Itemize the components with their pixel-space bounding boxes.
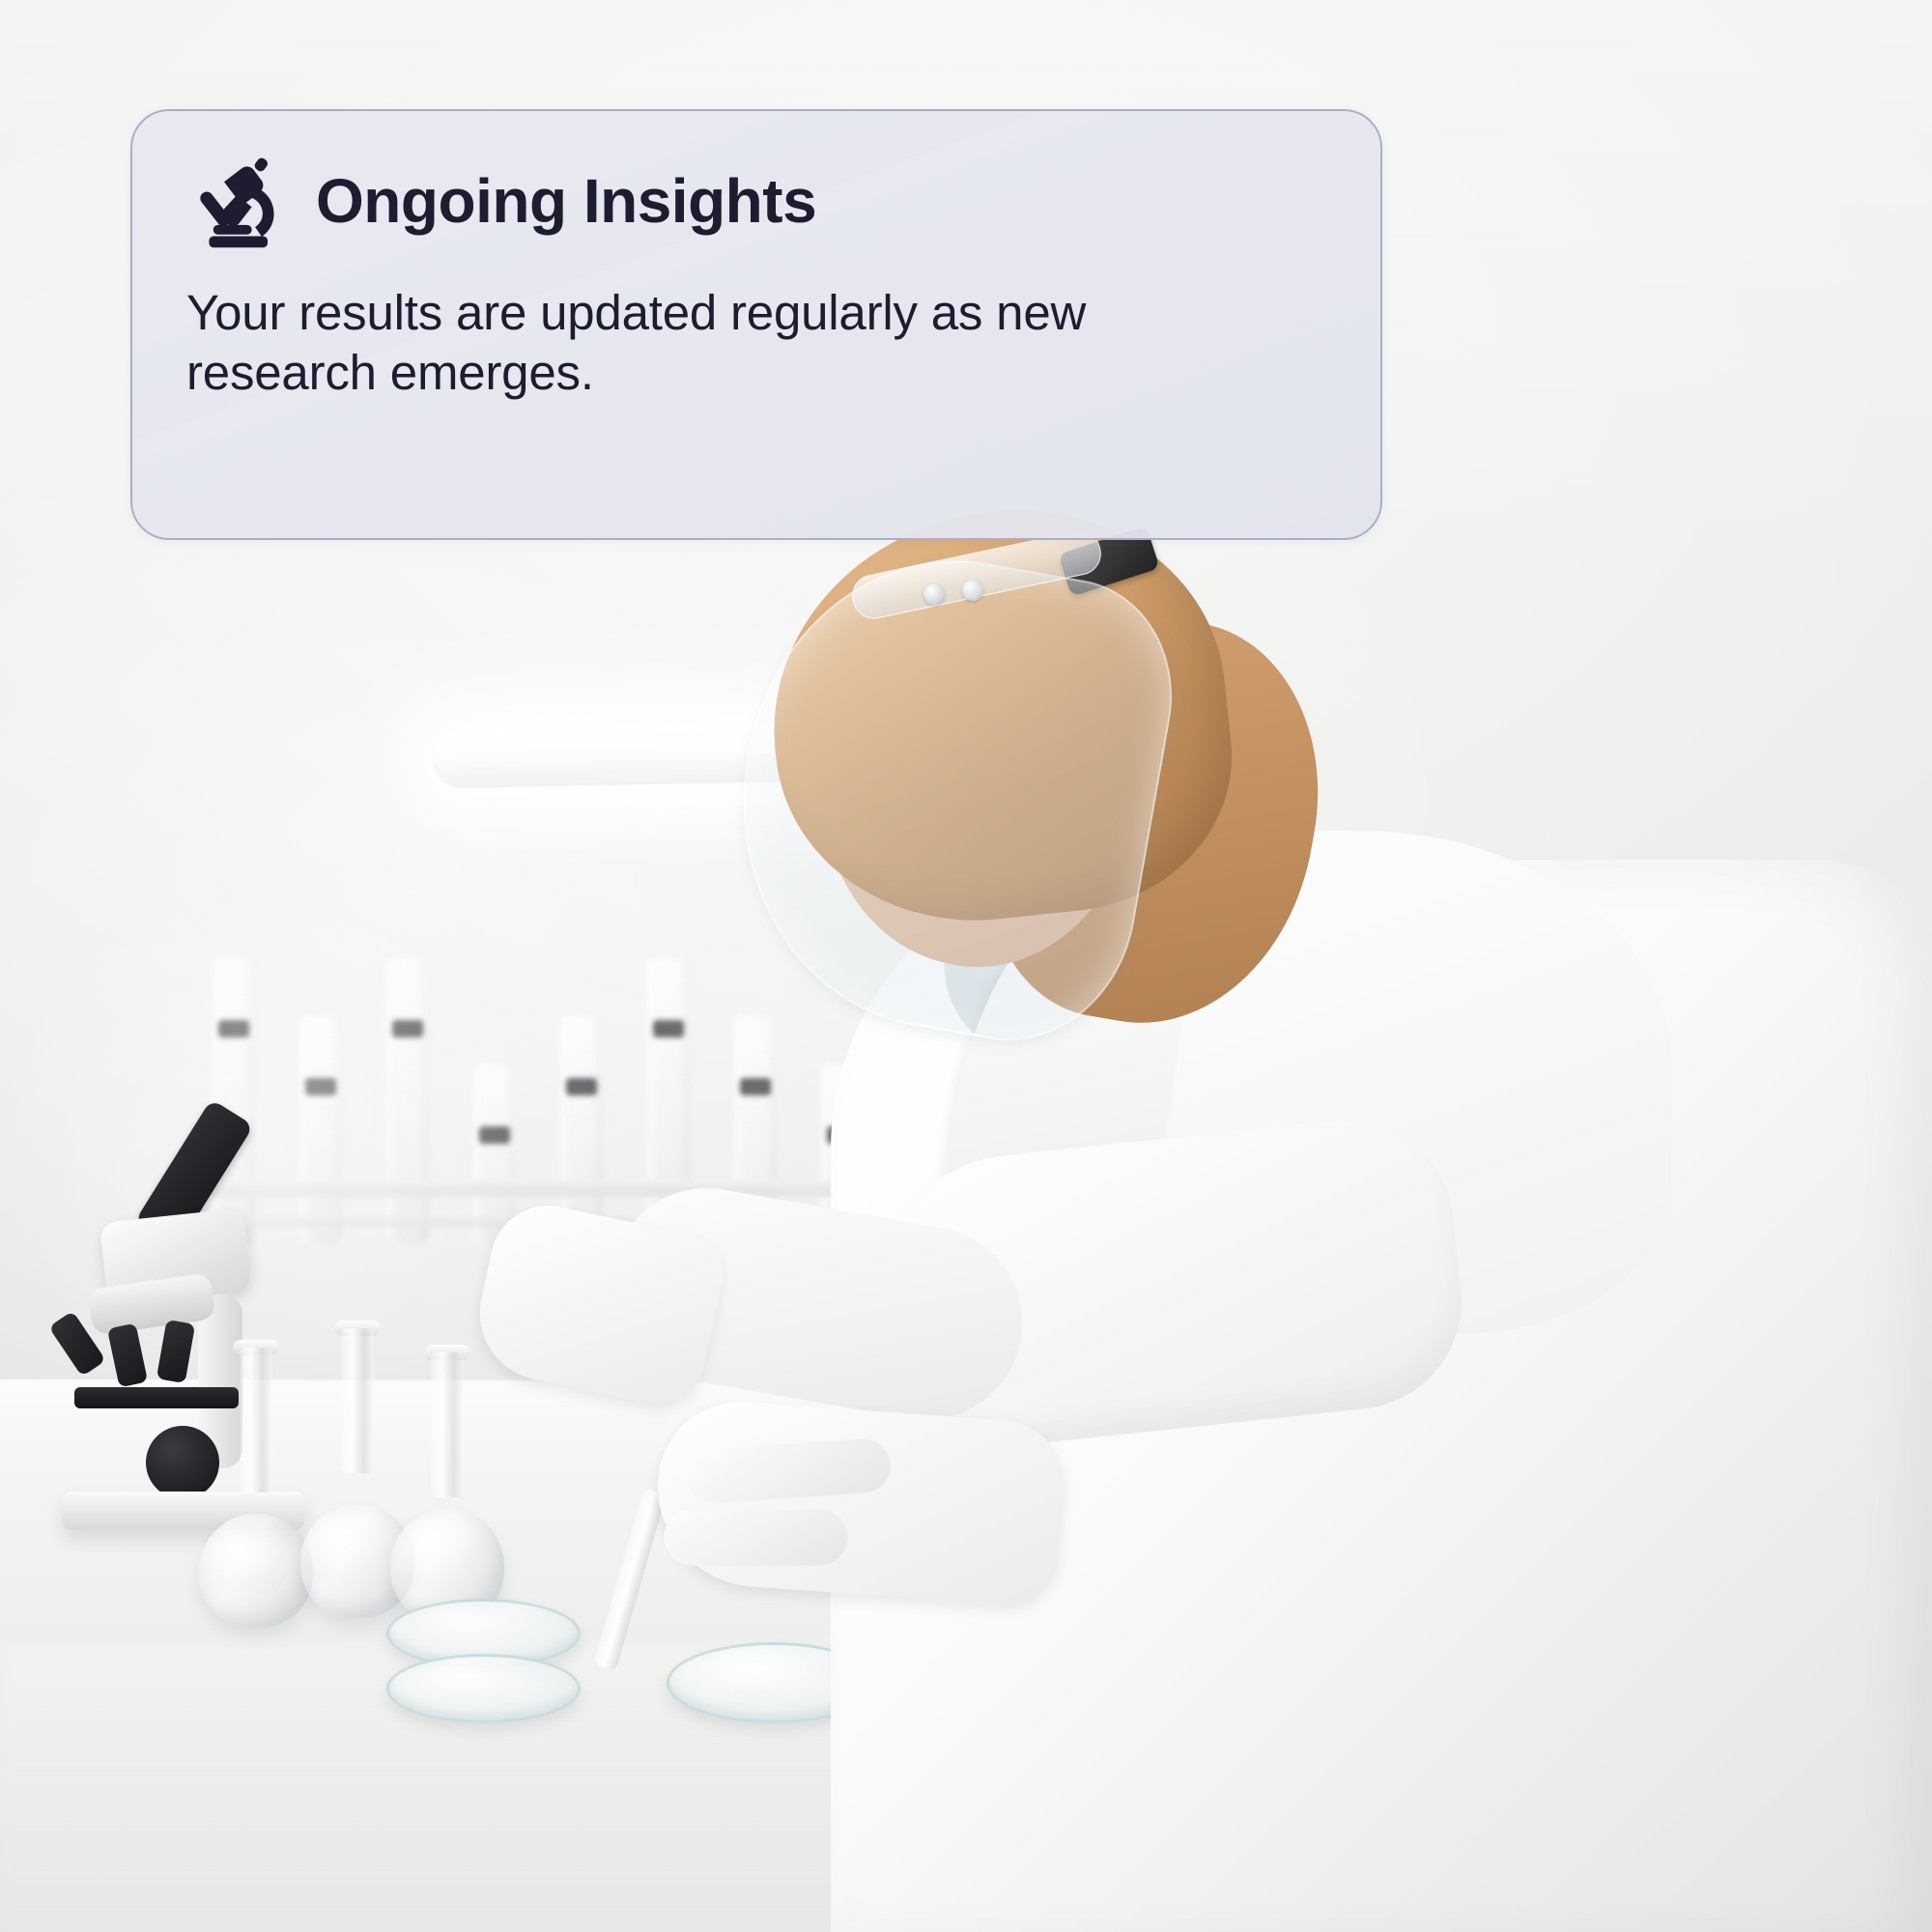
card-description: Your results are updated regularly as ne… (186, 283, 1162, 402)
glove-right (651, 1397, 1068, 1608)
test-tube (386, 956, 429, 1246)
flask-neck (341, 1328, 374, 1473)
card-header: Ongoing Insights (186, 152, 1326, 252)
head (734, 502, 1236, 1043)
card-content: Ongoing Insights Your results are update… (132, 111, 1380, 538)
volumetric-flask (384, 1352, 510, 1623)
ongoing-insights-card: Ongoing Insights Your results are update… (130, 109, 1382, 540)
card-title: Ongoing Insights (316, 169, 816, 234)
flask-neck (240, 1348, 272, 1492)
scientist (541, 541, 1932, 1932)
glove-finger (686, 1437, 892, 1506)
microscope-objective (107, 1323, 148, 1388)
glove-finger (664, 1510, 847, 1566)
microscope-icon (186, 152, 287, 252)
screenshot-root: Ongoing Insights Your results are update… (0, 0, 1932, 1932)
flask-neck (431, 1352, 464, 1497)
face-shield-stud (962, 580, 983, 601)
face-shield-stud (923, 583, 945, 605)
